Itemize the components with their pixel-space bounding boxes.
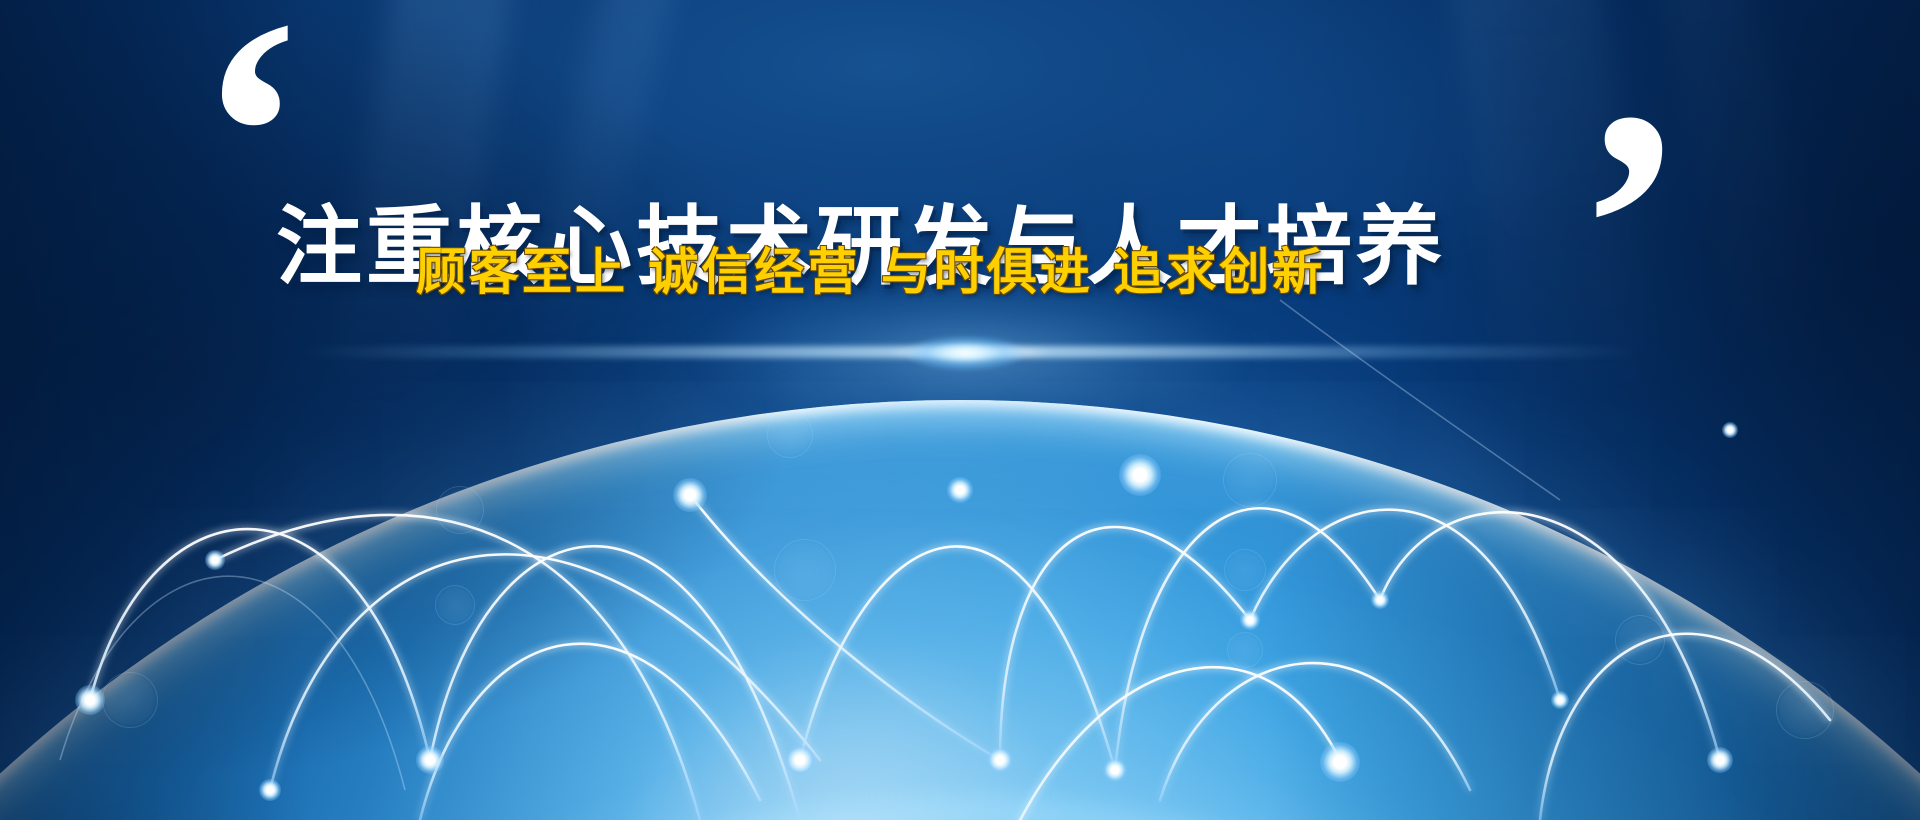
tagline: 顾客至上 诚信经营 与时俱进 追求创新 [416,232,1325,304]
hero-banner: ‘ 注重核心技术研发与人才培养 顾客至上 诚信经营 与时俱进 追求创新 ’ [0,0,1920,820]
closing-quote-icon: ’ [1576,62,1686,392]
